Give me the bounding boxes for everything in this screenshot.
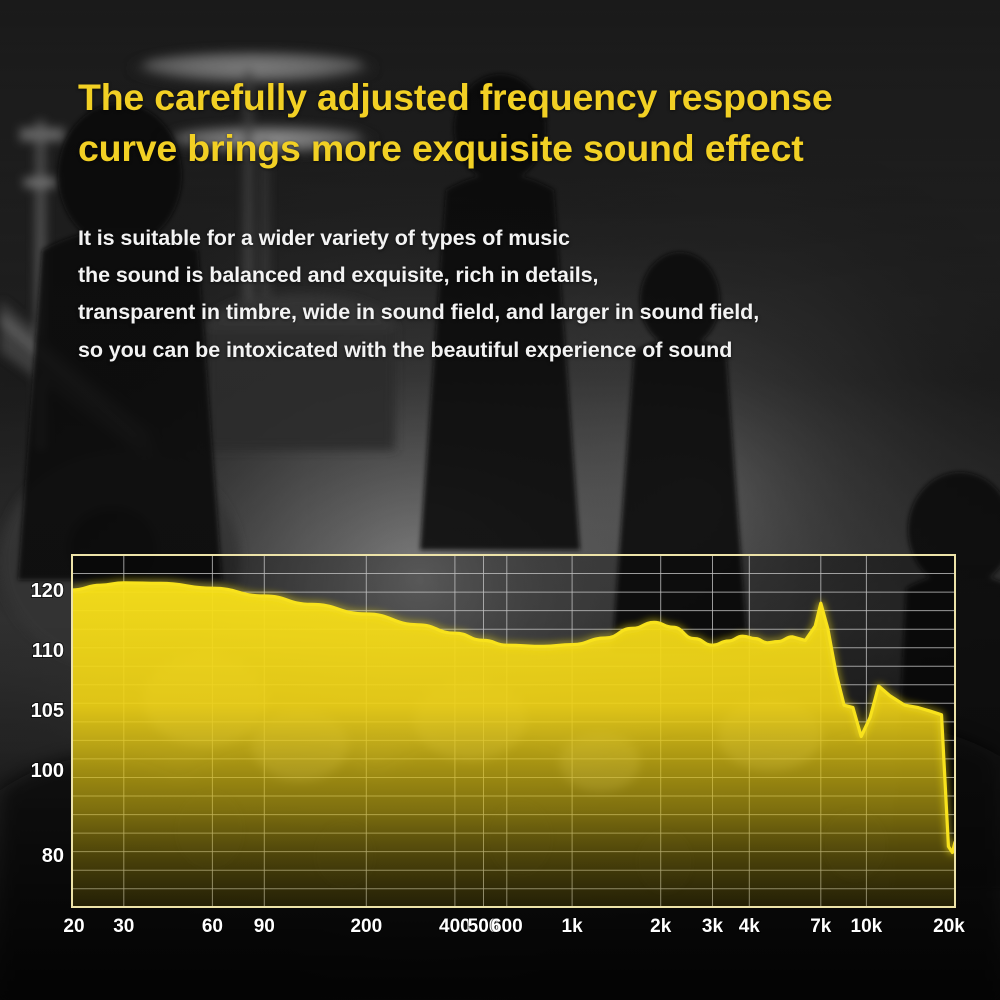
subcopy-line-4: so you can be intoxicated with the beaut…	[78, 332, 968, 369]
y-axis-labels: 12011010510080	[31, 580, 64, 867]
x-axis-tick-3k: 3k	[702, 916, 724, 937]
x-axis-tick-30: 30	[113, 916, 134, 937]
x-axis-tick-1k: 1k	[562, 916, 584, 937]
headline-line-2: curve brings more exquisite sound effect	[78, 123, 958, 174]
subcopy-line-3: transparent in timbre, wide in sound fie…	[78, 294, 968, 331]
y-axis-tick-110: 110	[32, 640, 64, 662]
x-axis-tick-90: 90	[254, 916, 275, 937]
x-axis-tick-10k: 10k	[851, 916, 883, 937]
description-paragraph: It is suitable for a wider variety of ty…	[78, 220, 968, 369]
x-axis-tick-200: 200	[350, 916, 382, 937]
x-axis-tick-60: 60	[202, 916, 223, 937]
page-title: The carefully adjusted frequency respons…	[78, 72, 958, 174]
headline-line-1: The carefully adjusted frequency respons…	[78, 72, 958, 123]
y-axis-tick-120: 120	[31, 580, 64, 602]
x-axis-tick-2k: 2k	[650, 916, 672, 937]
y-axis-tick-105: 105	[31, 700, 64, 722]
y-axis-tick-80: 80	[42, 845, 64, 867]
x-axis-labels: 203060902004005006001k2k3k4k7k10k20k	[63, 916, 965, 937]
x-axis-tick-600: 600	[491, 916, 523, 937]
x-axis-tick-400: 400	[439, 916, 471, 937]
x-axis-tick-20k: 20k	[933, 916, 965, 937]
x-axis-tick-4k: 4k	[739, 916, 761, 937]
x-axis-tick-7k: 7k	[810, 916, 832, 937]
x-axis-tick-20: 20	[63, 916, 84, 937]
subcopy-line-2: the sound is balanced and exquisite, ric…	[78, 257, 968, 294]
y-axis-tick-100: 100	[31, 760, 64, 782]
subcopy-line-1: It is suitable for a wider variety of ty…	[78, 220, 968, 257]
